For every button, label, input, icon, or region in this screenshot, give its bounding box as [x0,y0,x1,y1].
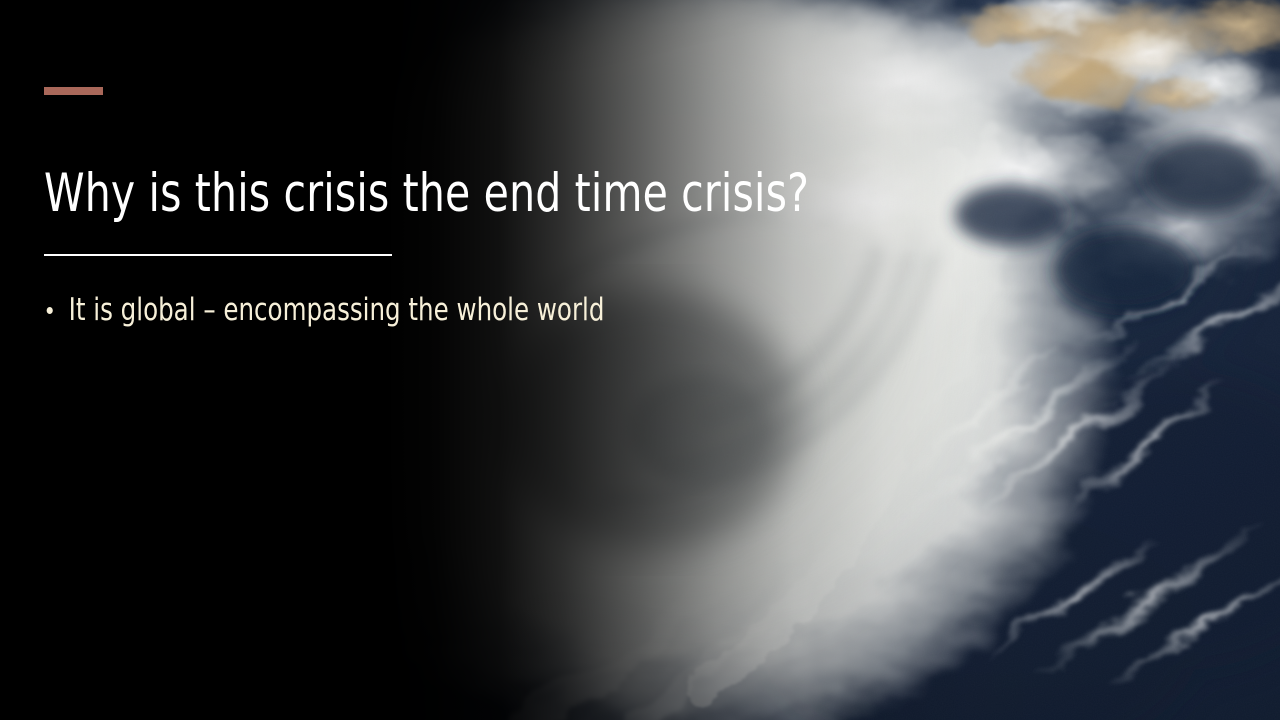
slide-title: Why is this crisis the end time crisis? [44,163,698,225]
title-underline-rule [44,254,392,256]
bullet-list: It is global – encompassing the whole wo… [44,288,824,332]
list-item: It is global – encompassing the whole wo… [44,288,730,332]
slide-content: Why is this crisis the end time crisis? … [0,0,1280,720]
presentation-slide: Why is this crisis the end time crisis? … [0,0,1280,720]
bullet-dot-icon [47,307,53,314]
bullet-text: It is global – encompassing the whole wo… [69,292,605,328]
accent-bar [44,87,103,95]
